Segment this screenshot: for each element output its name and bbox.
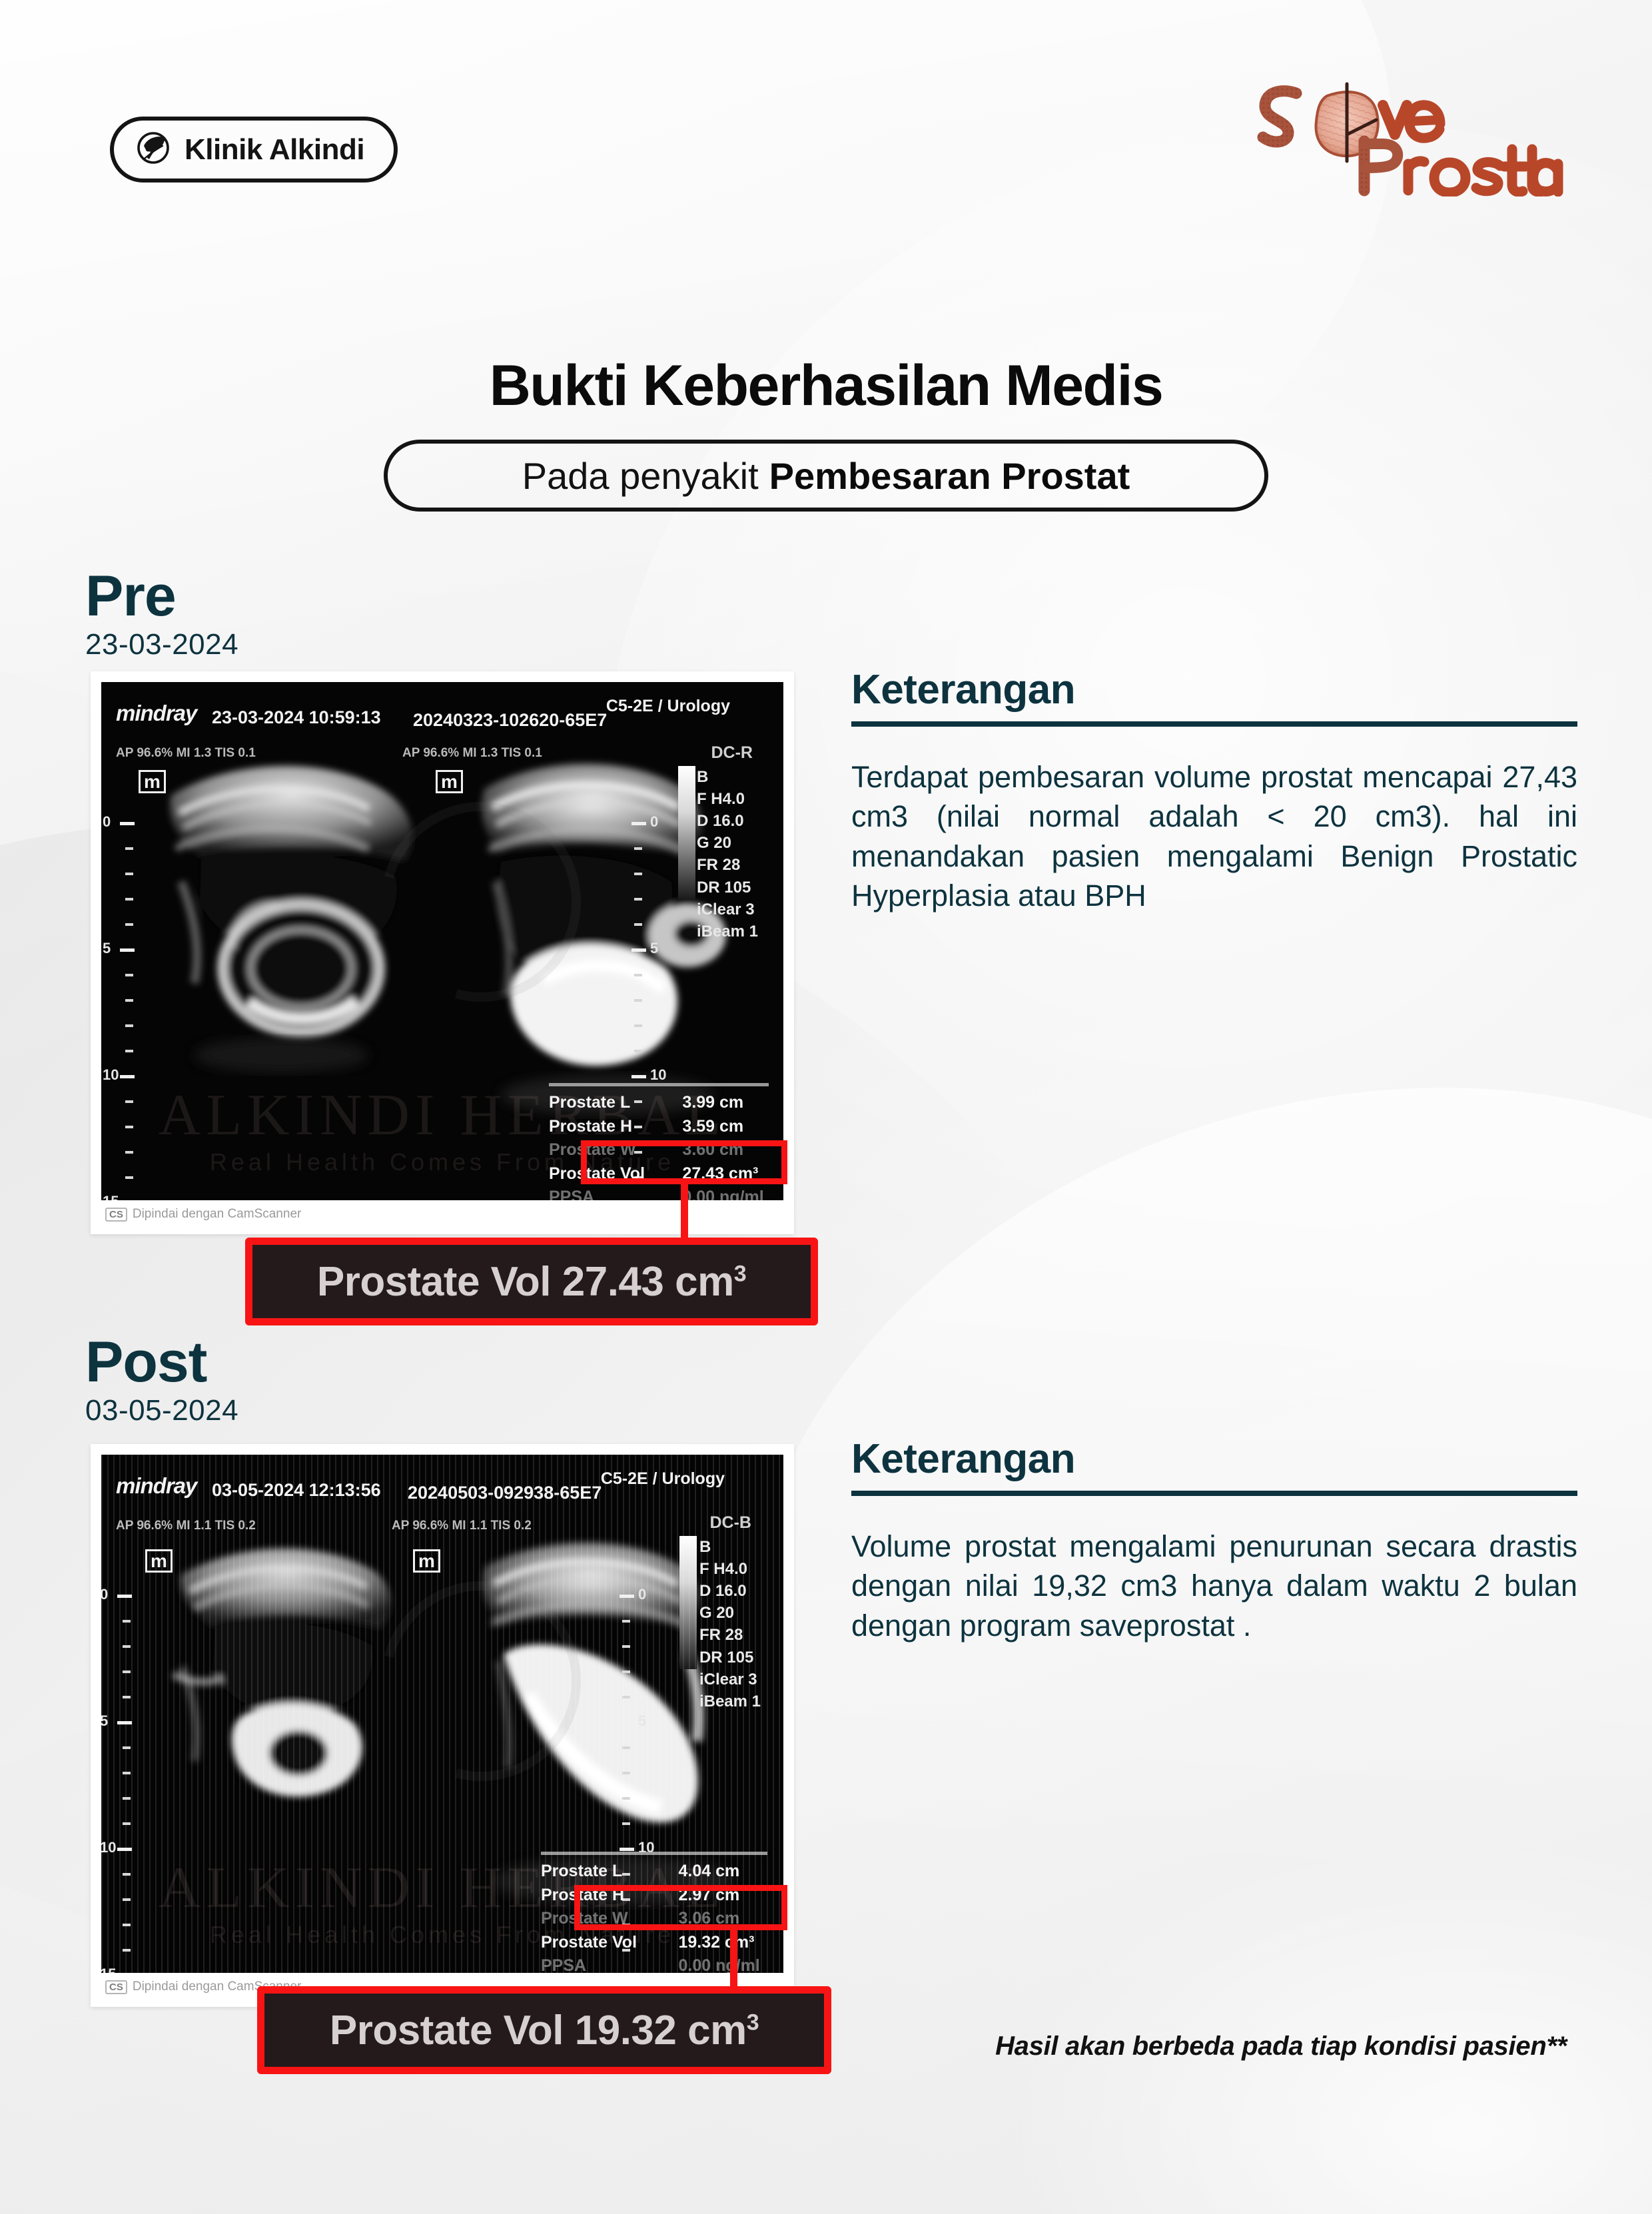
meas-label: Prostate Vol — [541, 1931, 678, 1955]
scan-acoustic-right-pre: AP 96.6% MI 1.3 TIS 0.1 — [402, 746, 542, 761]
depth-label-2: 10 — [101, 1839, 116, 1856]
page-title: Bukti Keberhasilan Medis — [0, 353, 1652, 419]
param-4: FR 28 — [699, 1624, 761, 1646]
ultrasound-image-pre: ALKINDI HERBAL Real Health Comes From Na… — [101, 682, 783, 1200]
param-0: B — [699, 1536, 761, 1558]
stage-date-post: 03-05-2024 — [85, 1394, 238, 1427]
stage-name-pre: Pre — [85, 569, 238, 624]
scan-datetime-pre: 23-03-2024 10:59:13 — [212, 707, 381, 728]
measurement-row: Prostate L 3.99 cm — [549, 1091, 769, 1115]
poster-page: Klinik Alkindi — [0, 0, 1652, 2214]
scan-params-pre: B F H4.0 D 16.0 G 20 FR 28 DR 105 iClear… — [697, 766, 758, 942]
callout-sup-post: 3 — [747, 2010, 759, 2035]
scan-study-id-pre: 20240323-102620-65E7 — [413, 710, 607, 731]
note-block-pre: Keterangan Terdapat pembesaran volume pr… — [851, 666, 1577, 916]
param-7: iBeam 1 — [699, 1690, 761, 1712]
param-7: iBeam 1 — [697, 921, 758, 942]
camscanner-chip: CS — [105, 1980, 127, 1994]
stage-label-pre: Pre 23-03-2024 — [85, 569, 238, 661]
depth-label-3: 15 — [103, 1193, 119, 1200]
depth-label-3: 15 — [101, 1966, 116, 1973]
param-3: G 20 — [699, 1602, 761, 1624]
param-2: D 16.0 — [699, 1580, 761, 1602]
marker-m-right-pre: m — [436, 770, 463, 793]
scan-params-post: B F H4.0 D 16.0 G 20 FR 28 DR 105 iClear… — [699, 1536, 761, 1712]
measurement-row: Prostate H 3.59 cm — [549, 1115, 769, 1139]
note-block-post: Keterangan Volume prostat mengalami penu… — [851, 1435, 1577, 1645]
callout-label-pre: Prostate Vol 27.43 cm — [317, 1259, 734, 1305]
depth-ruler-left-pre: 0 5 10 15 — [105, 782, 143, 1182]
callout-label-post: Prostate Vol 19.32 cm — [330, 2008, 747, 2053]
note-rule-post — [851, 1491, 1577, 1496]
note-body-pre: Terdapat pembesaran volume prostat menca… — [851, 757, 1577, 916]
marker-m-right-post: m — [413, 1549, 440, 1573]
measurement-row: Prostate L 4.04 cm — [541, 1860, 767, 1884]
scanner-vendor-pre: mindray — [116, 701, 197, 726]
callout-connector-pre — [681, 1184, 688, 1246]
param-3: G 20 — [697, 832, 758, 854]
meas-label: Prostate H — [549, 1115, 682, 1139]
param-1: F H4.0 — [699, 1558, 761, 1580]
camscanner-text: Dipindai dengan CamScanner — [133, 1207, 302, 1222]
meas-value: 19.32 cm³ — [678, 1931, 767, 1955]
param-0: B — [697, 766, 758, 788]
depth-label-r1: 5 — [638, 1712, 646, 1730]
depth-label-1: 5 — [103, 940, 111, 957]
note-title-post: Keterangan — [851, 1435, 1577, 1483]
depth-label-0: 0 — [101, 1586, 108, 1603]
scan-probe-post: C5-2E / Urology — [601, 1469, 725, 1489]
scan-mode-pre: DC-R — [711, 743, 753, 763]
saveprostat-logo — [1252, 73, 1565, 196]
stage-label-post: Post 03-05-2024 — [85, 1335, 238, 1427]
param-5: DR 105 — [697, 877, 758, 899]
callout-banner-pre: Prostate Vol 27.43 cm3 — [245, 1238, 818, 1325]
param-6: iClear 3 — [697, 899, 758, 921]
depth-label-1: 5 — [101, 1712, 108, 1730]
depth-ruler-left-post: 0 5 10 15 — [103, 1555, 140, 1954]
depth-label-r0: 0 — [650, 813, 658, 831]
scan-probe-pre: C5-2E / Urology — [606, 697, 730, 716]
leaf-circle-icon — [137, 131, 170, 168]
subtitle-normal: Pada penyakit — [522, 454, 759, 498]
meas-value: 3.59 cm — [682, 1115, 769, 1139]
measurement-row: PPSA 0.00 ng/ml — [549, 1186, 769, 1200]
callout-text-pre: Prostate Vol 27.43 cm3 — [317, 1258, 746, 1305]
grayscale-bar-pre — [678, 766, 695, 899]
callout-connector-post — [730, 1930, 737, 1993]
volume-highlight-box-pre — [581, 1140, 787, 1184]
depth-label-0: 0 — [103, 813, 111, 831]
scan-datetime-post: 03-05-2024 12:13:56 — [212, 1480, 381, 1501]
subtitle-bold: Pembesaran Prostat — [769, 454, 1130, 498]
marker-m-left-post: m — [145, 1549, 173, 1573]
meas-label: Prostate L — [541, 1860, 678, 1884]
meas-value: 4.04 cm — [678, 1860, 767, 1884]
stage-name-post: Post — [85, 1335, 238, 1390]
param-5: DR 105 — [699, 1647, 761, 1668]
param-4: FR 28 — [697, 854, 758, 876]
meas-value: 0.00 ng/ml — [682, 1186, 769, 1200]
callout-sup-pre: 3 — [734, 1261, 746, 1286]
scan-acoustic-left-post: AP 96.6% MI 1.1 TIS 0.2 — [116, 1519, 256, 1533]
meas-label: PPSA — [549, 1186, 682, 1200]
stage-date-pre: 23-03-2024 — [85, 628, 238, 661]
grayscale-bar-post — [679, 1536, 697, 1669]
marker-m-left-pre: m — [139, 770, 166, 793]
param-2: D 16.0 — [697, 810, 758, 832]
meas-value: 0.00 ng/ml — [678, 1954, 767, 1973]
callout-banner-post: Prostate Vol 19.32 cm3 — [257, 1986, 831, 2074]
subtitle-box: Pada penyakit Pembesaran Prostat — [384, 440, 1268, 512]
depth-label-r0: 0 — [638, 1586, 646, 1603]
camscanner-chip: CS — [105, 1208, 127, 1222]
clinic-badge-label: Klinik Alkindi — [185, 133, 364, 167]
param-1: F H4.0 — [697, 788, 758, 810]
clinic-badge[interactable]: Klinik Alkindi — [110, 117, 398, 183]
note-title-pre: Keterangan — [851, 666, 1577, 713]
disclaimer-text: Hasil akan berbeda pada tiap kondisi pas… — [995, 2031, 1567, 2061]
depth-label-r2: 10 — [650, 1066, 666, 1084]
meas-label: Prostate L — [549, 1091, 682, 1115]
depth-label-r1: 5 — [650, 940, 658, 957]
scanner-vendor-post: mindray — [116, 1473, 197, 1499]
scan-acoustic-left-pre: AP 96.6% MI 1.3 TIS 0.1 — [116, 746, 256, 761]
note-rule-pre — [851, 721, 1577, 727]
volume-highlight-box-post — [574, 1885, 787, 1930]
meas-label: PPSA — [541, 1954, 678, 1973]
depth-label-2: 10 — [103, 1066, 119, 1084]
callout-text-post: Prostate Vol 19.32 cm3 — [330, 2007, 759, 2054]
scan-mode-post: DC-B — [710, 1513, 752, 1533]
note-body-post: Volume prostat mengalami penurunan secar… — [851, 1527, 1577, 1645]
scan-acoustic-right-post: AP 96.6% MI 1.1 TIS 0.2 — [392, 1519, 532, 1533]
meas-value: 3.99 cm — [682, 1091, 769, 1115]
param-6: iClear 3 — [699, 1668, 761, 1690]
scan-study-id-post: 20240503-092938-65E7 — [408, 1483, 602, 1503]
